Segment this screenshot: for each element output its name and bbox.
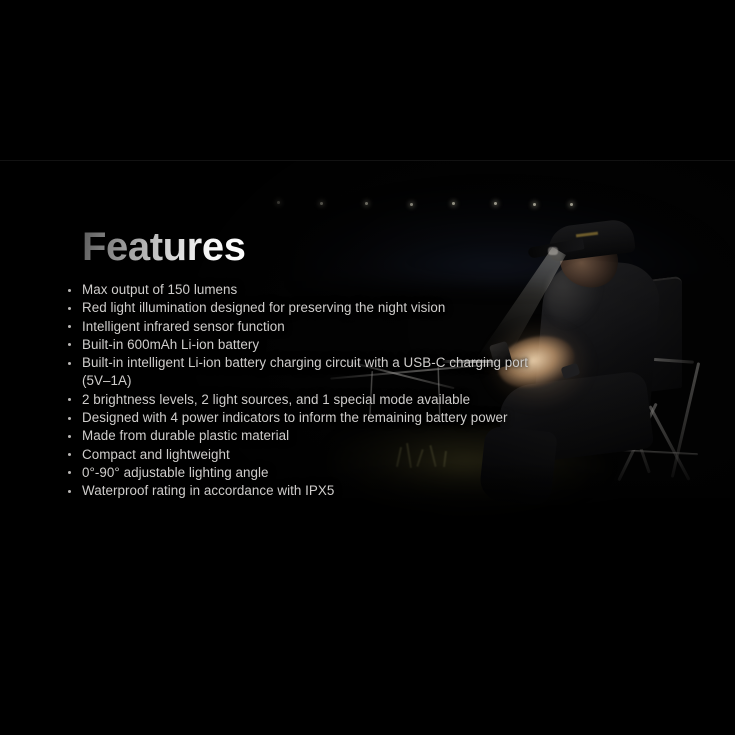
list-item: Made from durable plastic material: [66, 427, 536, 445]
top-letterbox-band: [0, 0, 735, 161]
list-item: 0°-90° adjustable lighting angle: [66, 464, 536, 482]
feature-list: Max output of 150 lumens Red light illum…: [66, 281, 536, 501]
list-item: Red light illumination designed for pres…: [66, 299, 536, 317]
list-item: Built-in intelligent Li-ion battery char…: [66, 354, 536, 391]
list-item: 2 brightness levels, 2 light sources, an…: [66, 391, 536, 409]
list-item: Designed with 4 power indicators to info…: [66, 409, 536, 427]
slide-canvas: Features Max output of 150 lumens Red li…: [0, 0, 735, 735]
list-item: Max output of 150 lumens: [66, 281, 536, 299]
list-item: Intelligent infrared sensor function: [66, 318, 536, 336]
list-item: Built-in 600mAh Li-ion battery: [66, 336, 536, 354]
bottom-letterbox-band: [0, 561, 735, 735]
list-item: Waterproof rating in accordance with IPX…: [66, 482, 536, 500]
list-item: Compact and lightweight: [66, 446, 536, 464]
feature-content-block: Features Max output of 150 lumens Red li…: [0, 161, 735, 561]
page-title: Features: [82, 227, 246, 267]
